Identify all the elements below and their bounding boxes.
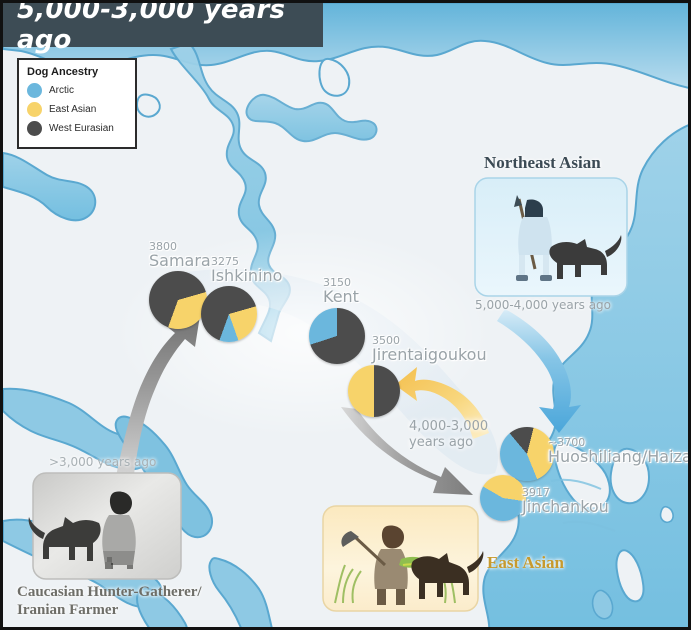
caucasian-caption: >3,000 years ago [49,455,156,469]
site-marker-samara: 3800 Samara [149,271,207,329]
caucasian-title: Caucasian Hunter-Gatherer/ Iranian Farme… [17,583,202,619]
northeast-asian-panel-box [475,178,627,296]
northeast-asian-caption: 5,000-4,000 years ago [475,298,611,312]
legend-swatch-west-eurasian [27,121,42,136]
steppe-arrow-label: 4,000-3,000 years ago [409,419,488,451]
site-name-huoshiliang: Huoshiliang/Haizang [548,448,691,465]
island-small-1 [661,507,673,523]
east-asian-panel-box [323,506,483,611]
east-asian-title: East Asian [487,553,564,573]
site-name-kent: Kent [323,288,359,305]
legend-item-east-asian: East Asian [27,102,127,117]
pie-chart-ishkinino [201,286,257,342]
site-name-samara: Samara [149,252,211,269]
site-marker-kent: 3150 Kent [309,308,365,364]
pie-chart-jinchankou [480,475,526,521]
legend-label-arctic: Arctic [49,85,74,96]
legend-label-west-eurasian: West Eurasian [49,123,114,134]
site-name-ishkinino: Ishkinino [211,267,282,284]
caucasian-panel-box [29,473,181,579]
site-name-jirentaigoukou: Jirentaigoukou [372,346,487,363]
site-marker-jinchankou: 3917 Jinchankou [480,475,526,521]
pie-chart-huoshiliang [500,427,554,481]
site-marker-huoshiliang: ~3700 Huoshiliang/Haizang [500,427,554,481]
site-marker-ishkinino: 3275 Ishkinino [201,286,257,342]
site-name-jinchankou: Jinchankou [522,498,609,515]
pie-chart-samara [149,271,207,329]
northeast-asian-title: Northeast Asian [484,153,601,173]
legend-item-west-eurasian: West Eurasian [27,121,127,136]
site-marker-jirentaigoukou: 3500 Jirentaigoukou [348,365,400,417]
legend-item-arctic: Arctic [27,83,127,98]
infographic-map: 5,000-3,000 years ago Dog Ancestry Arcti… [0,0,691,630]
legend-title: Dog Ancestry [27,66,127,78]
pie-chart-jirentaigoukou [348,365,400,417]
legend-swatch-east-asian [27,102,42,117]
legend-label-east-asian: East Asian [49,104,96,115]
page-title: 5,000-3,000 years ago [3,0,323,55]
lake-small-1 [137,94,160,116]
pie-chart-kent [309,308,365,364]
title-banner: 5,000-3,000 years ago [3,3,323,47]
legend-swatch-arctic [27,83,42,98]
legend: Dog Ancestry Arctic East Asian West Eura… [17,58,137,149]
